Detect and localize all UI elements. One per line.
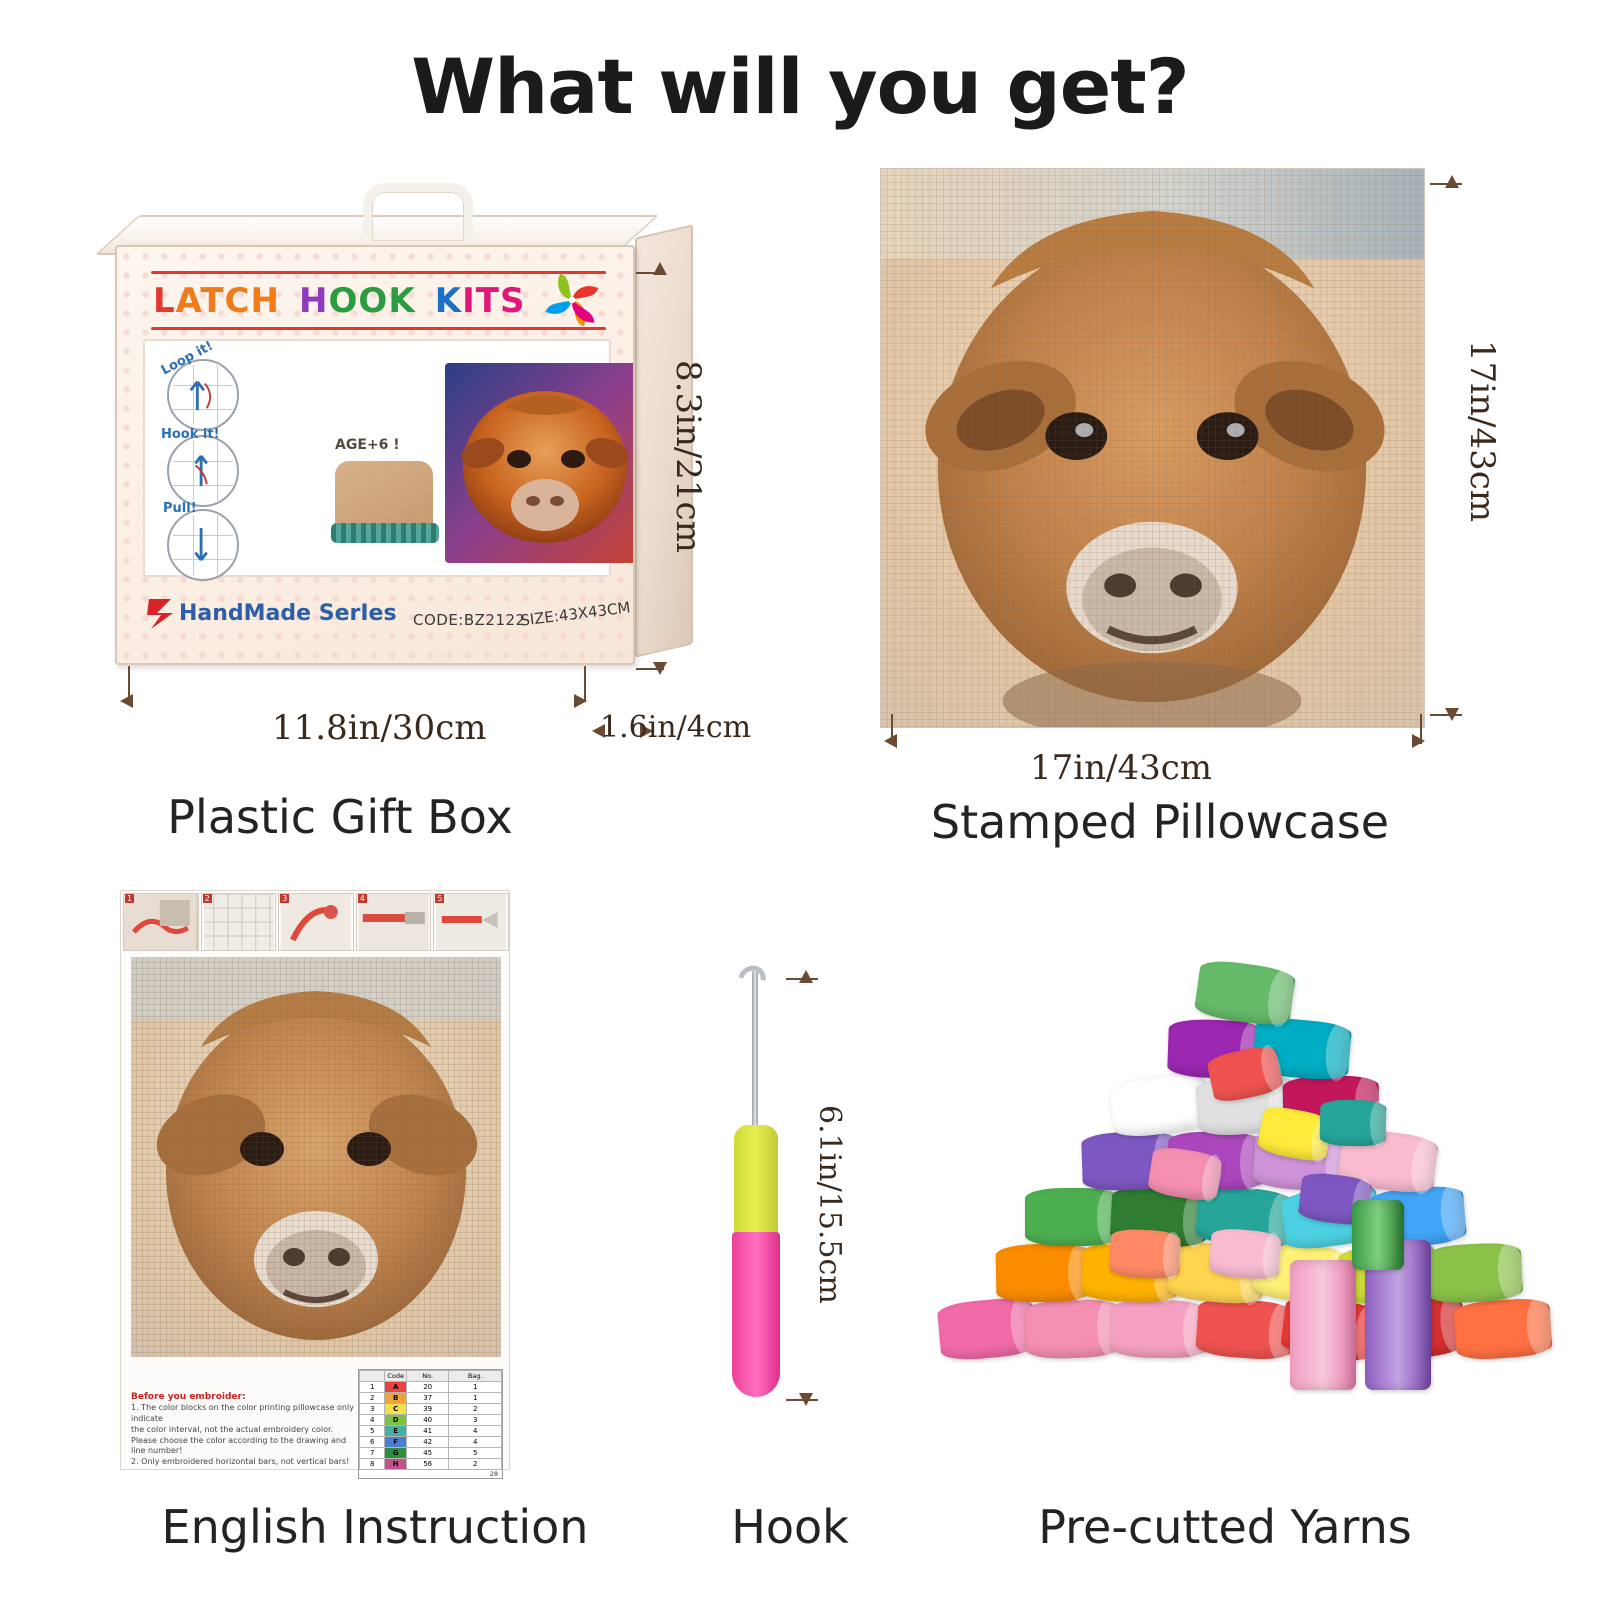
hook-needle bbox=[752, 970, 758, 1130]
legend-cell-code: C bbox=[385, 1404, 407, 1415]
instruction-step-photos: 1 2 3 4 5 bbox=[123, 893, 509, 951]
handmade-series-text: HandMade SerIes bbox=[179, 601, 397, 626]
legend-row: 4D403 bbox=[360, 1415, 502, 1426]
instruction-step-photo: 5 bbox=[433, 893, 509, 951]
legend-cell-index: 1 bbox=[360, 1382, 385, 1393]
english-instruction-figure: 1 2 3 4 5 bbox=[120, 890, 640, 1500]
legend-cell-bag: 3 bbox=[449, 1415, 502, 1426]
pillowcase-height-label: 17in/43cm bbox=[1462, 340, 1502, 522]
legend-row: 1A201 bbox=[360, 1382, 502, 1393]
brand-word-ook: OOK bbox=[329, 281, 416, 321]
yarn-tube bbox=[1290, 1260, 1356, 1390]
legend-cell-index: 4 bbox=[360, 1415, 385, 1426]
legend-cell-index: 6 bbox=[360, 1437, 385, 1448]
legend-cell-no: 39 bbox=[407, 1404, 449, 1415]
legend-cell-no: 20 bbox=[407, 1382, 449, 1393]
legend-cell-bag: 2 bbox=[449, 1459, 502, 1470]
legend-cell-code: G bbox=[385, 1448, 407, 1459]
pull-arrow-icon bbox=[169, 511, 237, 579]
yarn-bundle bbox=[1425, 1242, 1524, 1305]
yarn-bundle bbox=[1453, 1297, 1553, 1362]
legend-cell-index: 5 bbox=[360, 1426, 385, 1437]
instruction-note-line: Please choose the color according to the… bbox=[131, 1436, 361, 1458]
yarn-bundle bbox=[996, 1243, 1093, 1303]
yarn-bundle bbox=[1024, 1298, 1122, 1359]
legend-total: 28 bbox=[359, 1470, 502, 1478]
giftbox-width-label: 11.8in/30cm bbox=[272, 708, 486, 748]
legend-cell-bag: 4 bbox=[449, 1426, 502, 1437]
legend-cell-code: D bbox=[385, 1415, 407, 1426]
legend-cell-code: F bbox=[385, 1437, 407, 1448]
yarn-bundle bbox=[1111, 1299, 1208, 1359]
legend-row: 2B371 bbox=[360, 1393, 502, 1404]
pinwheel-logo-icon bbox=[539, 267, 605, 333]
legend-header-row: Code No. Bag. bbox=[360, 1371, 502, 1382]
instruction-note-line: 2. Only embroidered horizontal bars, not… bbox=[131, 1457, 361, 1468]
yarn-bundle bbox=[1320, 1099, 1387, 1146]
legend-cell-no: 56 bbox=[407, 1459, 449, 1470]
page-title: What will you get? bbox=[0, 42, 1600, 131]
hook-handle-upper bbox=[734, 1125, 778, 1235]
instruction-step-photo: 3 bbox=[278, 893, 354, 951]
legend-row: 7G455 bbox=[360, 1448, 502, 1459]
legend-cell-bag: 4 bbox=[449, 1437, 502, 1448]
yarn-bundle bbox=[1108, 1070, 1210, 1139]
step-number: 1 bbox=[125, 894, 134, 903]
legend-row: 6F424 bbox=[360, 1437, 502, 1448]
legend-header-no: No. bbox=[407, 1371, 449, 1382]
brand-letter-h: H bbox=[299, 281, 328, 321]
legend-row: 8H562 bbox=[360, 1459, 502, 1470]
caption-plastic-gift-box: Plastic Gift Box bbox=[130, 790, 550, 844]
yarn-bundle bbox=[1025, 1188, 1121, 1246]
caption-hook: Hook bbox=[660, 1500, 920, 1554]
caption-english-instruction: English Instruction bbox=[60, 1500, 690, 1554]
gift-box-front-panel: LATCH HOOK KITS bbox=[115, 245, 635, 665]
lightning-zigzag-icon bbox=[145, 597, 179, 631]
instruction-note: Before you embroider: 1. The color block… bbox=[131, 1391, 361, 1468]
legend-cell-code: H bbox=[385, 1459, 407, 1470]
instruction-note-title: Before you embroider: bbox=[131, 1391, 361, 1403]
instruction-step-photo: 2 bbox=[201, 893, 277, 951]
legend-header-bag: Bag. bbox=[449, 1371, 502, 1382]
legend-cell-no: 37 bbox=[407, 1393, 449, 1404]
yarn-bundle bbox=[937, 1296, 1038, 1362]
legend-row: 5E414 bbox=[360, 1426, 502, 1437]
yarn-bundle bbox=[1208, 1227, 1282, 1281]
yarn-bundle bbox=[1193, 958, 1296, 1029]
legend-cell-index: 8 bbox=[360, 1459, 385, 1470]
legend-cell-code: A bbox=[385, 1382, 407, 1393]
yarn-tube bbox=[1352, 1200, 1404, 1270]
caption-stamped-pillowcase: Stamped Pillowcase bbox=[880, 795, 1440, 849]
instruction-step-photo: 4 bbox=[356, 893, 432, 951]
gift-box-bottom-row: HandMade SerIes CODE:BZ2122 SIZE:43X43CM bbox=[145, 597, 615, 645]
gift-box-handle bbox=[363, 183, 473, 241]
brand-letter-k: K bbox=[435, 281, 462, 321]
pillowcase-width-label: 17in/43cm bbox=[1030, 748, 1212, 788]
cow-pillow-photo bbox=[445, 363, 635, 563]
product-code: CODE:BZ2122 bbox=[413, 611, 526, 629]
pre-cutted-yarns-figure bbox=[960, 900, 1520, 1460]
legend-cell-no: 40 bbox=[407, 1415, 449, 1426]
step-number: 2 bbox=[203, 894, 212, 903]
hook-handle-lower bbox=[732, 1232, 780, 1397]
legend-header-code: Code bbox=[385, 1371, 407, 1382]
instruction-sheet: 1 2 3 4 5 bbox=[120, 890, 510, 1470]
step-circle-hook bbox=[167, 435, 239, 507]
instruction-step-photo: 1 bbox=[123, 893, 199, 951]
legend-cell-index: 7 bbox=[360, 1448, 385, 1459]
legend-header-index bbox=[360, 1371, 385, 1382]
age-recommendation: AGE+6 ! bbox=[335, 437, 400, 453]
legend-cell-no: 42 bbox=[407, 1437, 449, 1448]
legend-cell-bag: 2 bbox=[449, 1404, 502, 1415]
legend-cell-bag: 1 bbox=[449, 1393, 502, 1404]
instruction-note-line: the color interval, not the actual embro… bbox=[131, 1425, 361, 1436]
instruction-panel: Loop it! Hook it! Pull! AGE+6 ! bbox=[143, 339, 611, 577]
instruction-note-line: 1. The color blocks on the color printin… bbox=[131, 1403, 361, 1425]
legend-row: 3C392 bbox=[360, 1404, 502, 1415]
step-number: 4 bbox=[358, 894, 367, 903]
legend-cell-code: E bbox=[385, 1426, 407, 1437]
brand-word-its: ITS bbox=[462, 281, 525, 321]
step-number: 3 bbox=[280, 894, 289, 903]
giftbox-height-label: 8.3in/21cm bbox=[668, 360, 708, 553]
instruction-chart-image bbox=[131, 957, 501, 1357]
legend-cell-code: B bbox=[385, 1393, 407, 1404]
giftbox-depth-label: 1.6in/4cm bbox=[600, 710, 751, 745]
legend-cell-bag: 5 bbox=[449, 1448, 502, 1459]
legend-cell-no: 41 bbox=[407, 1426, 449, 1437]
step-label-pull: Pull! bbox=[163, 501, 197, 516]
brand-row: LATCH HOOK KITS bbox=[151, 271, 611, 331]
step-circle-pull bbox=[167, 509, 239, 581]
legend-cell-no: 45 bbox=[407, 1448, 449, 1459]
legend-cell-bag: 1 bbox=[449, 1382, 502, 1393]
brand-letter-l: L bbox=[153, 281, 176, 321]
cushion-band bbox=[331, 523, 439, 543]
pillowcase-image bbox=[880, 168, 1425, 728]
step-label-hook: Hook it! bbox=[161, 427, 220, 442]
color-legend-table: Code No. Bag. 1A2012B3713C3924D4035E4146… bbox=[358, 1369, 503, 1479]
legend-cell-index: 3 bbox=[360, 1404, 385, 1415]
brand-word-atch: ATCH bbox=[176, 281, 280, 321]
hook-length-label: 6.1in/15.5cm bbox=[812, 1105, 847, 1304]
product-size: SIZE:43X43CM bbox=[519, 598, 631, 629]
caption-pre-cutted-yarns: Pre-cutted Yarns bbox=[960, 1500, 1490, 1554]
legend-cell-index: 2 bbox=[360, 1393, 385, 1404]
hook-arrow-icon bbox=[169, 437, 237, 505]
stamped-pillowcase-figure bbox=[880, 168, 1500, 788]
step-number: 5 bbox=[435, 894, 444, 903]
yarn-bundle bbox=[1195, 1297, 1295, 1362]
yarn-bundle bbox=[1109, 1228, 1181, 1280]
